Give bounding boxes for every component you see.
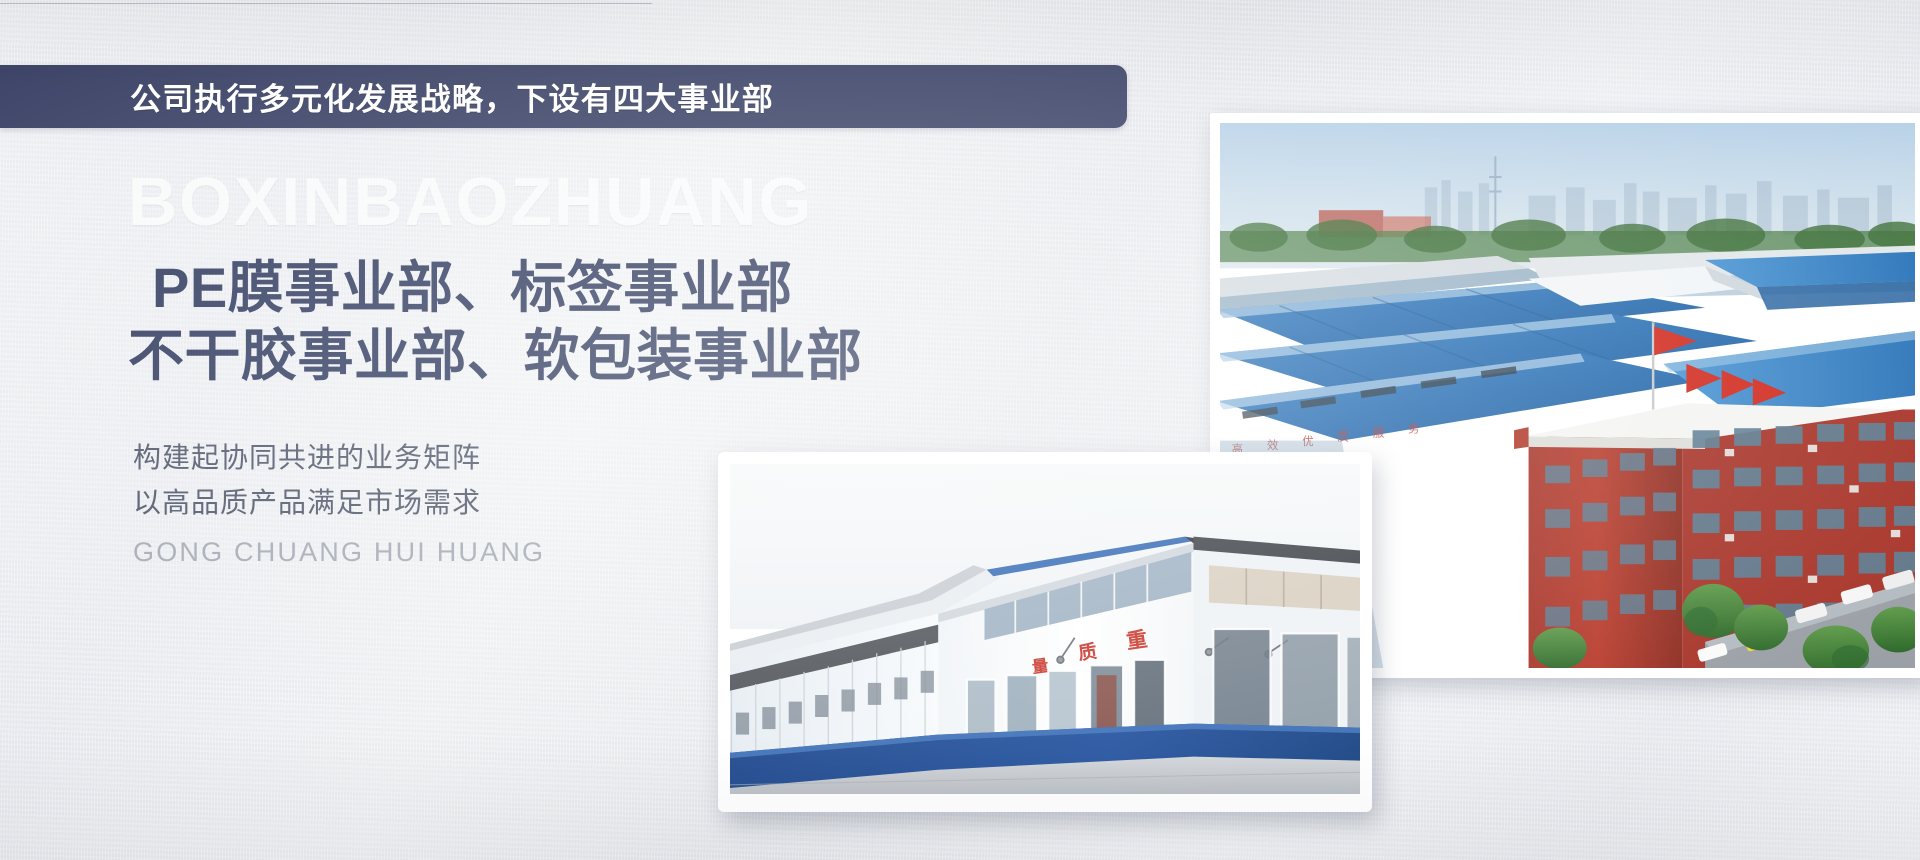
svg-text:务: 务 (1408, 421, 1419, 435)
strategy-banner: 公司执行多元化发展战略，下设有四大事业部 (0, 65, 1127, 128)
factory-facade-illustration: 量 质 重 (730, 464, 1360, 794)
factory-facade-photo: 量 质 重 (718, 452, 1372, 812)
svg-text:质: 质 (1077, 641, 1099, 664)
strategy-banner-text: 公司执行多元化发展战略，下设有四大事业部 (130, 74, 774, 119)
svg-text:服: 服 (1373, 426, 1385, 440)
hero-banner-slide: 公司执行多元化发展战略，下设有四大事业部 BOXINBAOZHUANG PE膜事… (0, 0, 1920, 860)
svg-text:重: 重 (1125, 627, 1149, 654)
watermark-text: BOXINBAOZHUANG (128, 168, 988, 236)
headline-line-2: 不干胶事业部、软包装事业部 (128, 322, 988, 390)
factory-facade-image: 量 质 重 (730, 464, 1360, 794)
top-hairline-divider (0, 3, 652, 4)
headline-line-1: PE膜事业部、标签事业部 (152, 254, 988, 322)
